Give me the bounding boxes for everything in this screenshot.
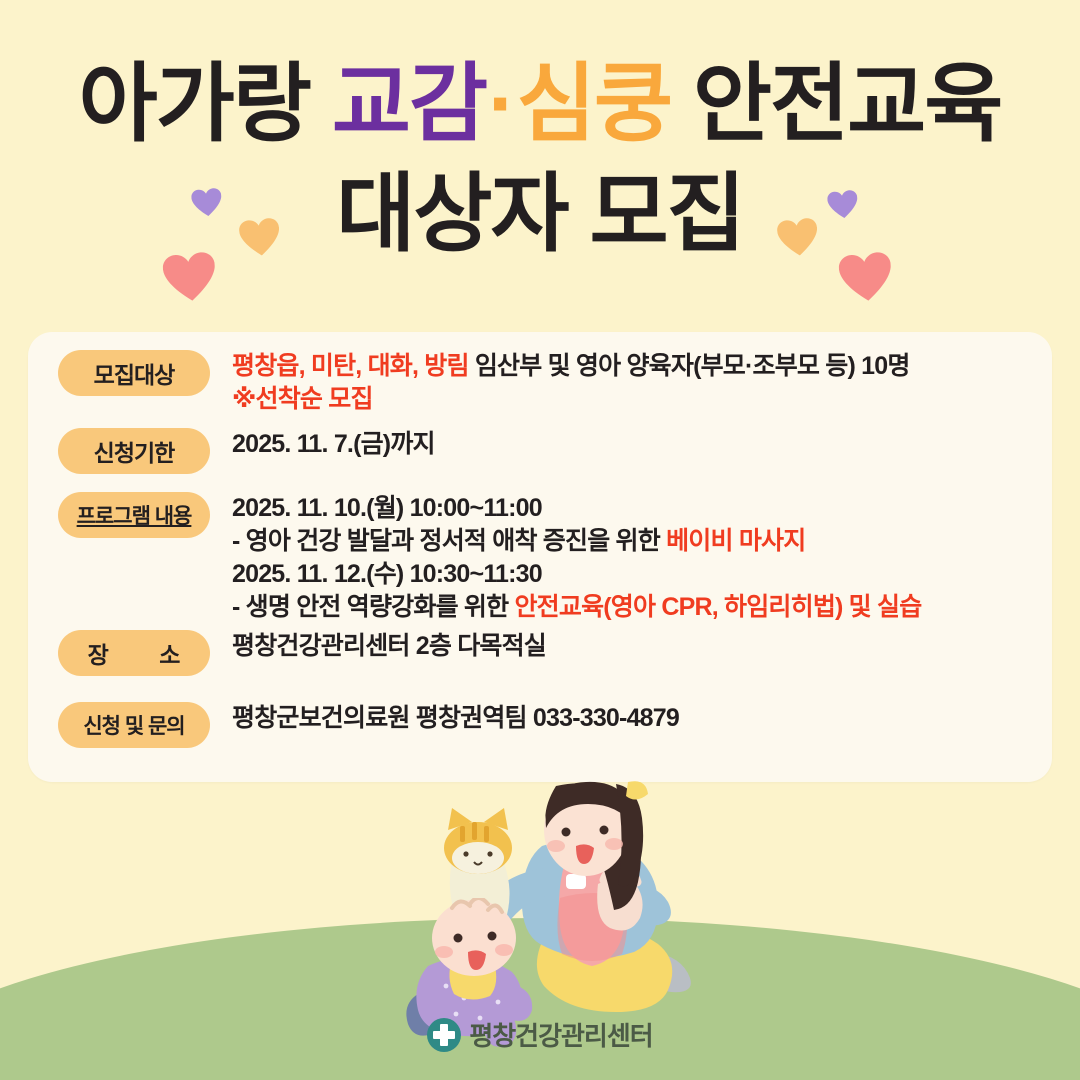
title-line-2: 대상자 모집: [0, 167, 1080, 262]
info-row-body-5: 평창군보건의료원 평창권역팀 033-330-4879: [232, 702, 679, 735]
poster-title: 아가랑 교감·심쿵 안전교육 대상자 모집: [0, 58, 1080, 271]
info-row-body-4: 평창건강관리센터 2층 다목적실: [232, 630, 546, 663]
info-row-label-1: 모집대상: [58, 350, 210, 396]
info-row-body-3: 2025. 11. 10.(월) 10:00~11:00 - 영아 건강 발달과…: [232, 492, 921, 624]
heart-purple-right: [827, 189, 860, 222]
poster-root: 아가랑 교감·심쿵 안전교육 대상자 모집 모집대상평창읍, 미탄, 대화, 방…: [0, 0, 1080, 1080]
info-row-3: 프로그램 내용2025. 11. 10.(월) 10:00~11:00 - 영아…: [58, 492, 1028, 624]
footer-logo: 평창건강관리센터: [0, 1016, 1080, 1053]
logo-text: 평창건강관리센터: [469, 1016, 652, 1053]
info-line: 평창읍, 미탄, 대화, 방림 임산부 및 영아 양육자(부모·조부모 등) 1…: [232, 350, 910, 383]
title-line-1: 아가랑 교감·심쿵 안전교육: [0, 58, 1080, 151]
info-row-body-2: 2025. 11. 7.(금)까지: [232, 428, 435, 461]
text-segment: 임산부 및 영아 양육자(부모·조부모 등) 10명: [469, 352, 910, 380]
info-row-1: 모집대상평창읍, 미탄, 대화, 방림 임산부 및 영아 양육자(부모·조부모 …: [58, 350, 1028, 416]
text-segment: 평창읍, 미탄, 대화, 방림: [232, 352, 469, 380]
info-row-2: 신청기한2025. 11. 7.(금)까지: [58, 428, 1028, 474]
info-line: 2025. 11. 10.(월) 10:00~11:00: [232, 492, 921, 525]
info-row-5: 신청 및 문의평창군보건의료원 평창권역팀 033-330-4879: [58, 702, 1028, 748]
title-seg-safety-education: 안전교육: [671, 56, 1001, 152]
info-row-label-2: 신청기한: [58, 428, 210, 474]
text-segment: 2025. 11. 12.(수) 10:30~11:30: [232, 560, 542, 588]
info-card: 모집대상평창읍, 미탄, 대화, 방림 임산부 및 영아 양육자(부모·조부모 …: [28, 332, 1052, 782]
text-segment: 2025. 11. 7.(금)까지: [232, 430, 435, 458]
info-line: 2025. 11. 7.(금)까지: [232, 428, 435, 461]
title-seg-dot: ·: [486, 56, 517, 152]
text-segment: ※선착순 모집: [232, 385, 373, 413]
text-segment: 평창군보건의료원 평창권역팀 033-330-4879: [232, 704, 679, 732]
info-row-label-4: 장 소: [58, 630, 210, 676]
info-row-label-3: 프로그램 내용: [58, 492, 210, 538]
info-row-label-5: 신청 및 문의: [58, 702, 210, 748]
heart-purple-left: [191, 187, 224, 220]
heart-orange-right: [776, 216, 820, 260]
text-segment: 평창건강관리센터 2층 다목적실: [232, 632, 546, 660]
info-line: 2025. 11. 12.(수) 10:30~11:30: [232, 558, 921, 591]
title-seg-agarang: 아가랑: [79, 56, 332, 152]
title-seg-simkung: 심쿵: [517, 56, 671, 152]
heart-pink-right: [837, 249, 894, 306]
health-center-cross-icon: [427, 1018, 461, 1052]
info-row-body-1: 평창읍, 미탄, 대화, 방림 임산부 및 영아 양육자(부모·조부모 등) 1…: [232, 350, 910, 416]
info-line: - 영아 건강 발달과 정서적 애착 증진을 위한 베이비 마사지: [232, 525, 921, 558]
heart-pink-left: [161, 249, 218, 306]
text-segment: 2025. 11. 10.(월) 10:00~11:00: [232, 494, 542, 522]
info-line: - 생명 안전 역량강화를 위한 안전교육(영아 CPR, 하임리히법) 및 실…: [232, 591, 921, 624]
text-segment: 베이비 마사지: [666, 527, 805, 555]
title-seg-gyogam: 교감: [332, 56, 486, 152]
text-segment: - 생명 안전 역량강화를 위한: [232, 593, 514, 621]
text-segment: - 영아 건강 발달과 정서적 애착 증진을 위한: [232, 527, 666, 555]
info-row-4: 장 소평창건강관리센터 2층 다목적실: [58, 630, 1028, 676]
info-line: 평창군보건의료원 평창권역팀 033-330-4879: [232, 702, 679, 735]
info-line: ※선착순 모집: [232, 383, 910, 416]
heart-orange-left: [238, 216, 282, 260]
info-line: 평창건강관리센터 2층 다목적실: [232, 630, 546, 663]
text-segment: 안전교육(영아 CPR, 하임리히법) 및 실습: [514, 593, 921, 621]
